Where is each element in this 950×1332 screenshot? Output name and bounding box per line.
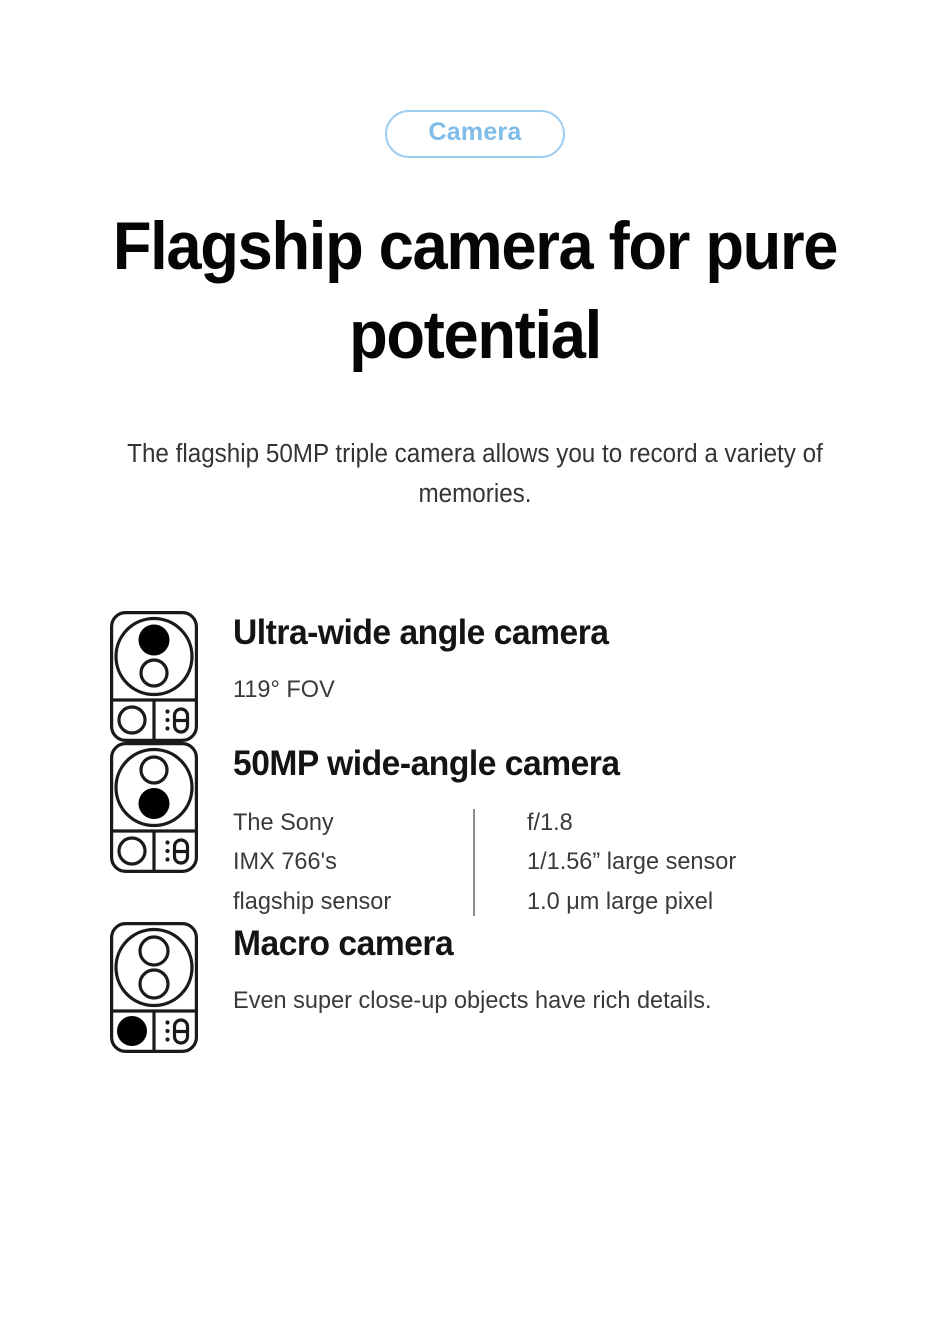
spec-line: 1/1.56” large sensor	[527, 842, 933, 882]
camera-module-macro-icon	[110, 922, 198, 1053]
icon-cell	[110, 611, 198, 742]
spec-column-left: The Sony IMX 766's flagship sensor	[233, 803, 463, 922]
feature-title: 50MP wide-angle camera	[233, 744, 921, 783]
feature-body: Ultra-wide angle camera 119° FOV	[198, 611, 950, 709]
spec-line: flagship sensor	[233, 882, 463, 922]
spec-line: IMX 766's	[233, 842, 463, 882]
feature-title: Macro camera	[233, 924, 921, 963]
icon-cell	[110, 742, 198, 873]
page-subtitle: The flagship 50MP triple camera allows y…	[100, 435, 851, 515]
camera-module-wide-icon	[110, 742, 198, 873]
feature-title: Ultra-wide angle camera	[233, 613, 921, 652]
camera-module-ultrawide-icon	[110, 611, 198, 742]
feature-item-wide-angle: 50MP wide-angle camera The Sony IMX 766'…	[0, 742, 950, 922]
icon-cell	[110, 922, 198, 1053]
spec-divider	[473, 809, 475, 916]
feature-body: Macro camera Even super close-up objects…	[198, 922, 950, 1020]
badge-container: Camera	[0, 0, 950, 158]
spec-line: 1.0 μm large pixel	[527, 882, 933, 922]
feature-item-macro: Macro camera Even super close-up objects…	[0, 922, 950, 1053]
spec-line: The Sony	[233, 803, 463, 843]
spec-column-right: f/1.8 1/1.56” large sensor 1.0 μm large …	[527, 803, 933, 922]
feature-subtitle: 119° FOV	[233, 670, 921, 709]
feature-body: 50MP wide-angle camera The Sony IMX 766'…	[198, 742, 950, 922]
feature-subtitle: Even super close-up objects have rich de…	[233, 981, 921, 1020]
spec-line: f/1.8	[527, 803, 933, 843]
page-title: Flagship camera for pure potential	[75, 202, 875, 382]
feature-list: Ultra-wide angle camera 119° FOV 50M	[0, 611, 950, 1053]
section-badge: Camera	[385, 110, 566, 158]
spec-columns: The Sony IMX 766's flagship sensor f/1.8…	[233, 803, 950, 922]
feature-item-ultra-wide: Ultra-wide angle camera 119° FOV	[0, 611, 950, 742]
